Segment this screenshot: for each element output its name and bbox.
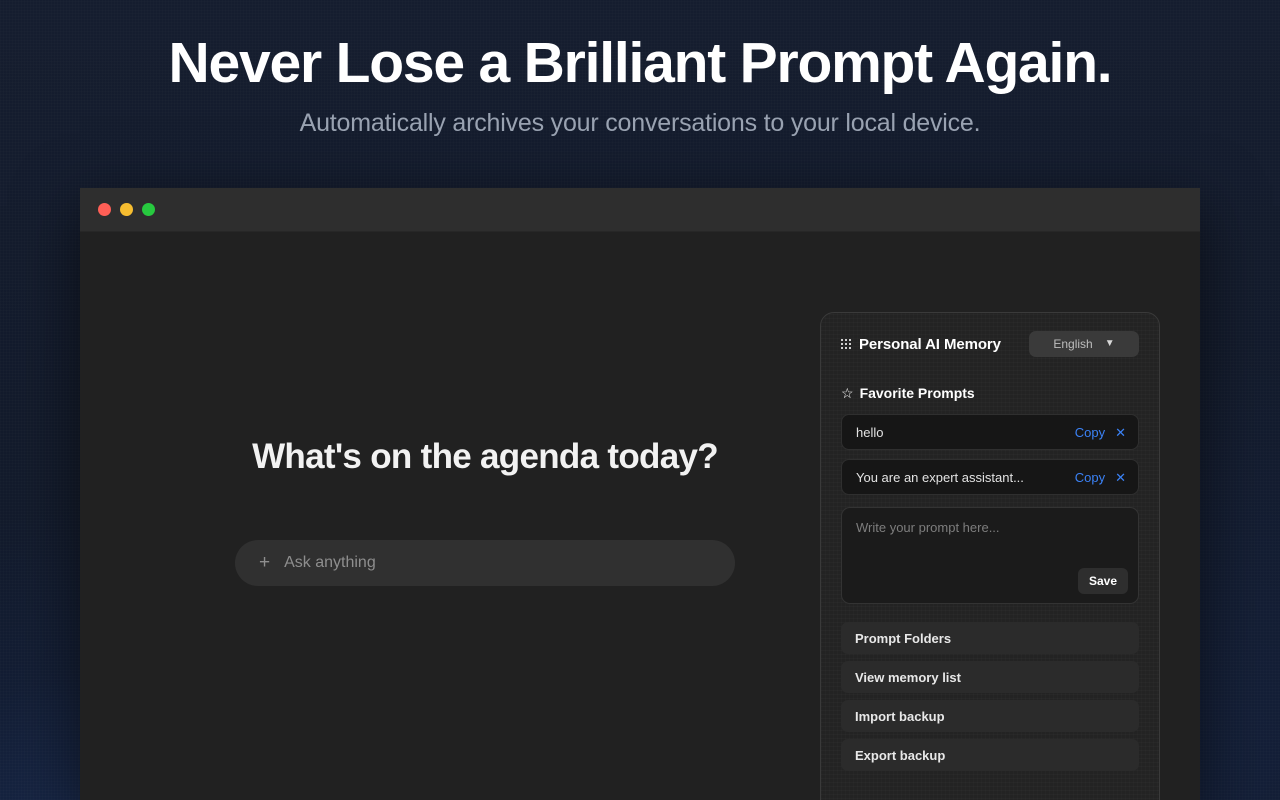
copy-button[interactable]: Copy [1075,425,1105,440]
favorite-prompts-title: Favorite Prompts [860,385,975,401]
page-subtitle: Automatically archives your conversation… [0,109,1280,138]
chevron-down-icon: ▼ [1105,339,1115,349]
favorite-prompts-list: hello Copy ✕ You are an expert assistant… [841,414,1139,495]
prompt-compose-box[interactable]: Write your prompt here... Save [841,507,1139,604]
grid-dots-icon[interactable] [841,339,851,349]
language-select[interactable]: English ▼ [1029,331,1139,357]
copy-button[interactable]: Copy [1075,470,1105,485]
favorite-prompts-header: ☆ Favorite Prompts [841,385,1139,401]
list-item[interactable]: You are an expert assistant... Copy ✕ [841,459,1139,495]
page-title: Never Lose a Brilliant Prompt Again. [0,33,1280,95]
panel-title-group: Personal AI Memory [841,336,1001,353]
plus-icon[interactable]: + [259,553,270,572]
menu-item-export-backup[interactable]: Export backup [841,739,1139,771]
personal-ai-memory-panel: Personal AI Memory English ▼ ☆ Favorite … [820,312,1160,800]
app-window: What's on the agenda today? + Ask anythi… [80,188,1200,800]
prompt-text: You are an expert assistant... [856,470,1024,485]
hero-section: Never Lose a Brilliant Prompt Again. Aut… [0,0,1280,138]
prompt-actions: Copy ✕ [1075,425,1126,440]
window-titlebar [80,188,1200,232]
language-select-value: English [1053,337,1092,351]
prompt-textarea-placeholder: Write your prompt here... [856,520,1125,535]
list-item[interactable]: hello Copy ✕ [841,414,1139,450]
window-body: What's on the agenda today? + Ask anythi… [80,232,1200,800]
close-window-button[interactable] [98,203,111,216]
chat-area: What's on the agenda today? + Ask anythi… [80,232,890,800]
panel-menu: Prompt Folders View memory list Import b… [841,622,1139,771]
minimize-window-button[interactable] [120,203,133,216]
prompt-actions: Copy ✕ [1075,470,1126,485]
star-icon: ☆ [841,386,854,400]
ask-anything-input[interactable]: + Ask anything [235,540,735,586]
save-button[interactable]: Save [1078,568,1128,594]
panel-title: Personal AI Memory [859,336,1001,353]
agenda-heading: What's on the agenda today? [252,437,718,477]
panel-header: Personal AI Memory English ▼ [841,331,1139,357]
maximize-window-button[interactable] [142,203,155,216]
delete-icon[interactable]: ✕ [1115,426,1126,439]
prompt-text: hello [856,425,883,440]
menu-item-import-backup[interactable]: Import backup [841,700,1139,732]
landing-page: Never Lose a Brilliant Prompt Again. Aut… [0,0,1280,800]
menu-item-view-memory-list[interactable]: View memory list [841,661,1139,693]
delete-icon[interactable]: ✕ [1115,471,1126,484]
ask-anything-placeholder: Ask anything [284,554,376,572]
menu-item-prompt-folders[interactable]: Prompt Folders [841,622,1139,654]
